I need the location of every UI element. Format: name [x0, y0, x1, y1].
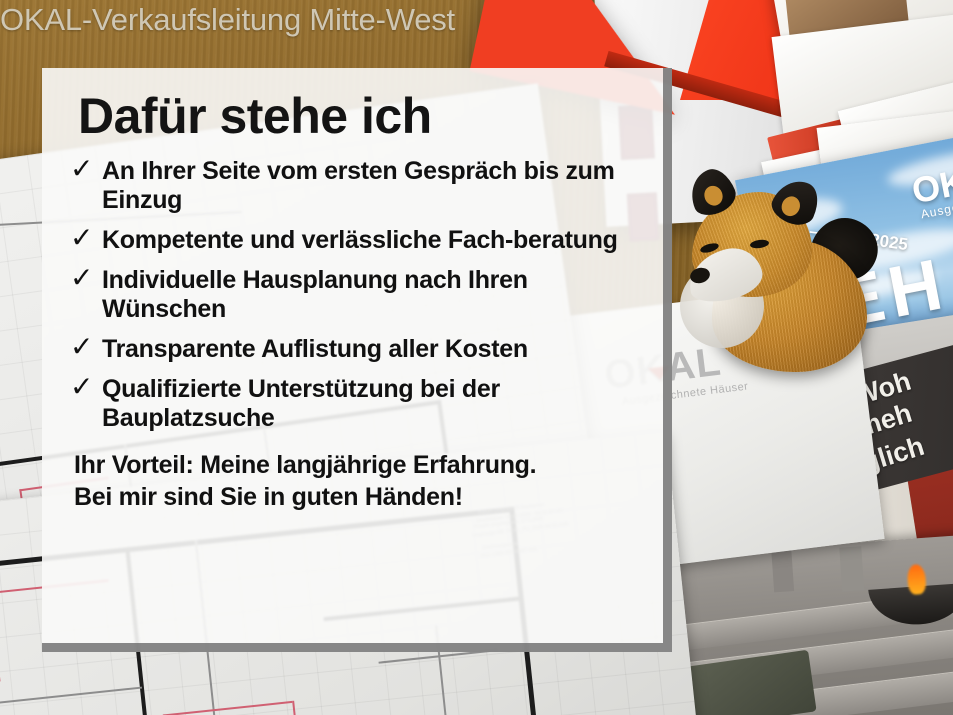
- list-item-label: Individuelle Hausplanung nach Ihren Wüns…: [102, 266, 641, 324]
- fox-ear-inner: [701, 183, 725, 208]
- fox-ear-inner: [779, 193, 804, 219]
- check-icon: ✓: [62, 263, 102, 292]
- check-icon: ✓: [62, 372, 102, 401]
- list-item-label: Qualifizierte Unterstützung bei der Baup…: [102, 375, 641, 433]
- closing-line-2: Bei mir sind Sie in guten Händen!: [74, 481, 641, 514]
- plush-fox-figurine: [690, 178, 875, 378]
- fox-ear: [767, 173, 825, 231]
- list-item: ✓ Kompetente und verlässliche Fach-berat…: [62, 226, 641, 255]
- terrace-chair: [771, 547, 794, 592]
- benefits-list: ✓ An Ihrer Seite vom ersten Gespräch bis…: [62, 157, 641, 433]
- fire-flame: [907, 564, 927, 595]
- closing-line-1: Ihr Vorteil: Meine langjährige Erfahrung…: [74, 449, 641, 482]
- check-icon: ✓: [62, 154, 102, 183]
- page-title: OKAL-Verkaufsleitung Mitte-West: [0, 2, 455, 38]
- check-icon: ✓: [62, 223, 102, 252]
- list-item: ✓ Individuelle Hausplanung nach Ihren Wü…: [62, 266, 641, 324]
- fox-head: [692, 192, 812, 297]
- list-item: ✓ Transparente Auflistung aller Kosten: [62, 335, 641, 364]
- list-item: ✓ Qualifizierte Unterstützung bei der Ba…: [62, 375, 641, 433]
- panel-heading: Dafür stehe ich: [78, 90, 641, 143]
- list-item: ✓ An Ihrer Seite vom ersten Gespräch bis…: [62, 157, 641, 215]
- fox-eye: [750, 239, 770, 250]
- closing-statement: Ihr Vorteil: Meine langjährige Erfahrung…: [74, 449, 641, 514]
- terrace-chair: [839, 546, 864, 591]
- check-icon: ✓: [62, 332, 102, 361]
- list-item-label: An Ihrer Seite vom ersten Gespräch bis z…: [102, 157, 641, 215]
- list-item-label: Transparente Auflistung aller Kosten: [102, 335, 528, 364]
- content-panel: Dafür stehe ich ✓ An Ihrer Seite vom ers…: [42, 68, 672, 652]
- list-item-label: Kompetente und verlässliche Fach-beratun…: [102, 226, 618, 255]
